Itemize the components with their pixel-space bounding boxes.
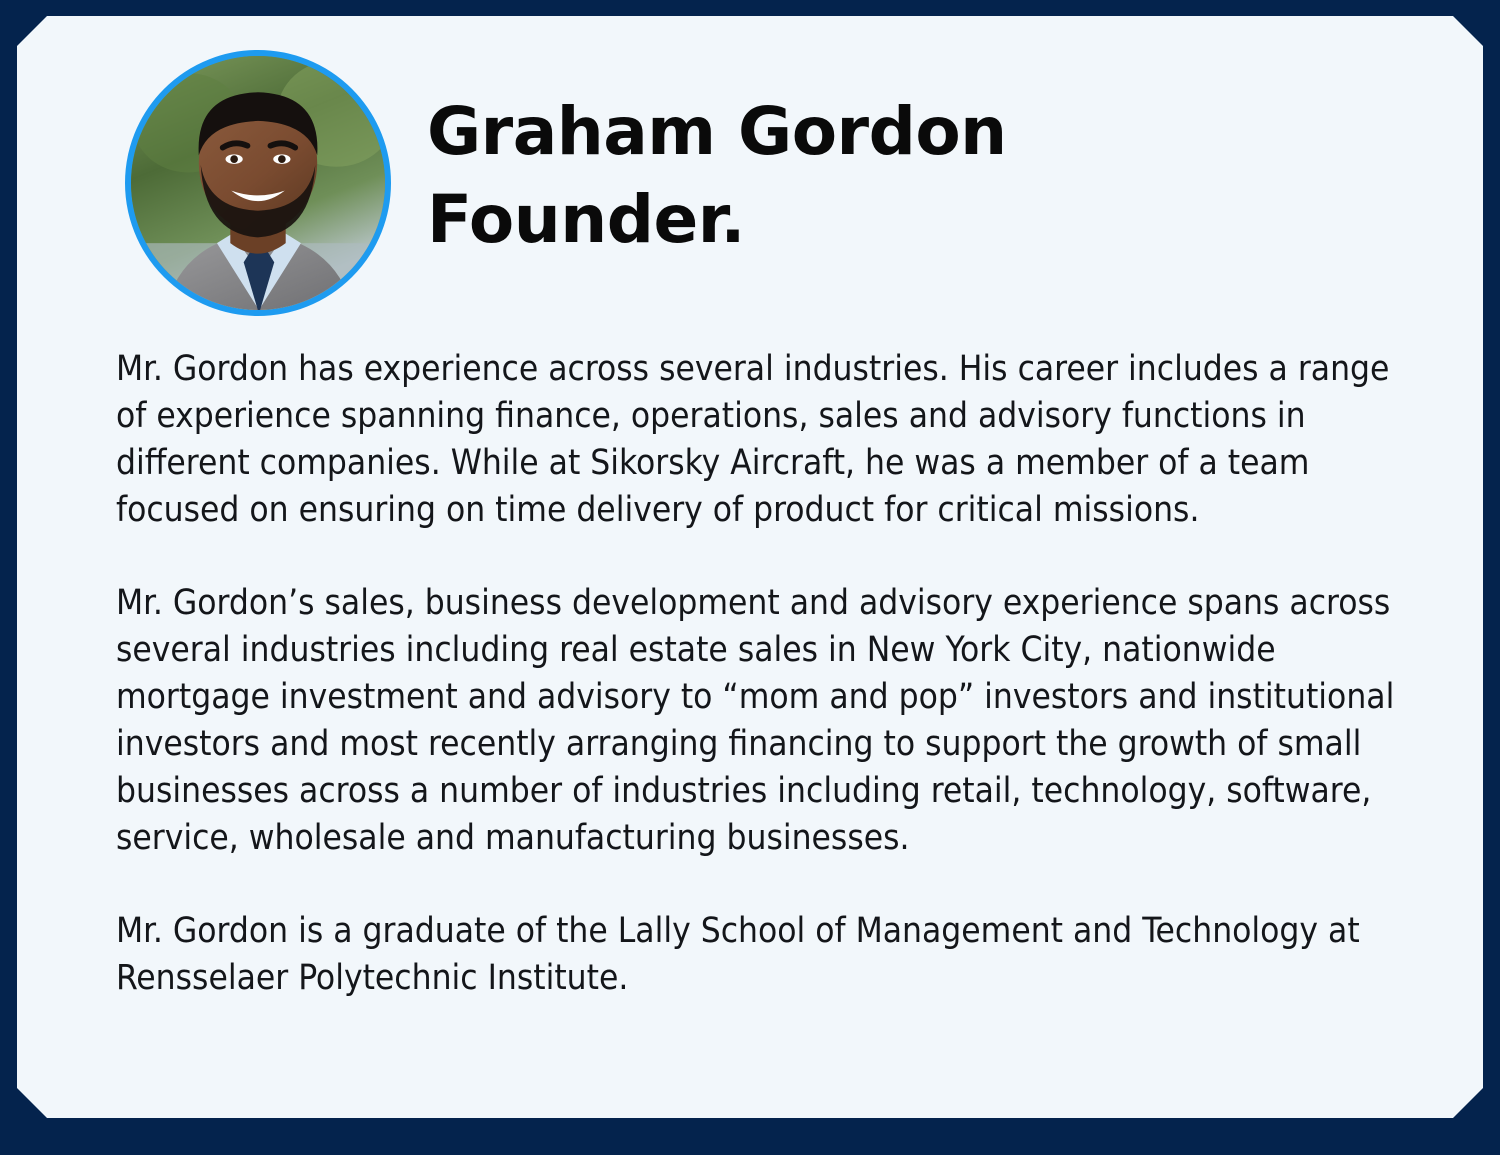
bio-paragraph-2: Mr. Gordon’s sales, business development… xyxy=(116,580,1416,862)
bio-body: Mr. Gordon has experience across several… xyxy=(116,346,1416,1002)
bio-card-surface: Graham Gordon Founder. Mr. Gordon has ex… xyxy=(17,16,1483,1118)
header-heading: Graham Gordon Founder. xyxy=(427,88,1387,264)
person-name: Graham Gordon xyxy=(427,88,1387,176)
card-header: Graham Gordon Founder. xyxy=(17,16,1483,316)
person-role: Founder. xyxy=(427,176,1387,264)
avatar-portrait-icon xyxy=(131,56,385,310)
bio-card-frame: Graham Gordon Founder. Mr. Gordon has ex… xyxy=(0,0,1500,1155)
bio-paragraph-3: Mr. Gordon is a graduate of the Lally Sc… xyxy=(116,908,1416,1002)
avatar xyxy=(125,50,391,316)
bio-paragraph-1: Mr. Gordon has experience across several… xyxy=(116,346,1416,534)
